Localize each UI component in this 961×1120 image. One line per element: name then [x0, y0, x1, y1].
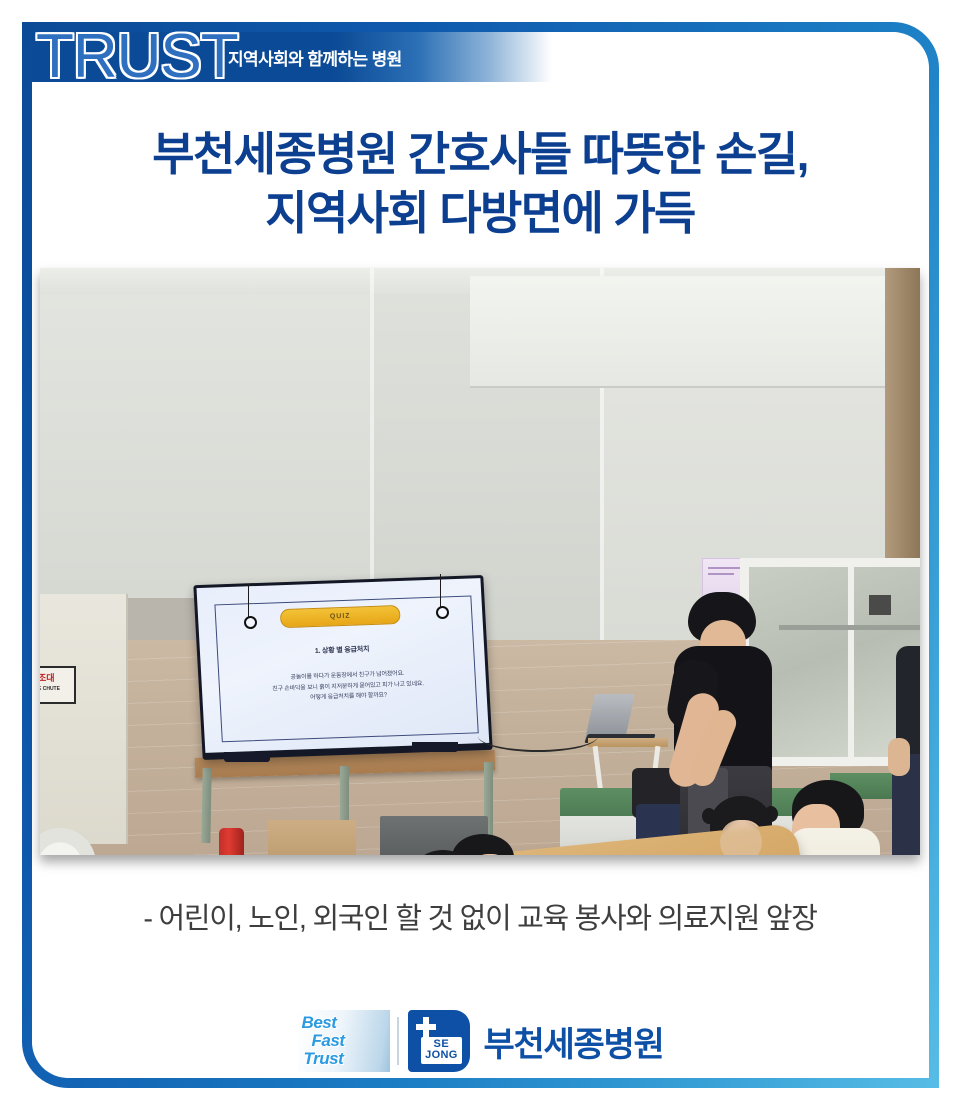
tv-table-leg-left: [201, 768, 211, 843]
photo-caption: - 어린이, 노인, 외국인 할 것 없이 교육 봉사와 의료지원 앞장: [40, 895, 920, 937]
poster-line-2: [708, 573, 734, 575]
power-cable-1: [478, 720, 598, 752]
page-title: 부천세종병원 간호사들 따뜻한 손길, 지역사회 다방면에 가득: [40, 125, 920, 243]
slogan-line-fast: Fast: [302, 1032, 390, 1050]
window-exterior-pipe: [779, 625, 920, 630]
window-pane: [749, 567, 920, 757]
wall-sign-line-2: E CHUTE: [40, 686, 60, 692]
hero-photo: 조대 E CHUTE QUIZ 1. 상황 별 응급처치 공놀이를 하다가 운동…: [40, 268, 920, 855]
tv-body: QUIZ 1. 상황 별 응급처치 공놀이를 하다가 운동장에서 친구가 넘어졌…: [193, 575, 492, 760]
whiteboard: [470, 276, 890, 388]
fire-extinguisher: [219, 828, 244, 855]
cardboard-box: [268, 820, 356, 855]
wall-sign-line-1: 조대: [40, 671, 55, 684]
poster-line-1: [708, 567, 740, 569]
cross-notch: [416, 1017, 422, 1023]
hang-ring-right: [436, 606, 449, 619]
window-exterior-box: [869, 595, 891, 615]
cross-horizontal: [416, 1024, 436, 1030]
wall-left: [40, 268, 390, 598]
logo-divider: [397, 1017, 399, 1065]
sejong-wordmark-box: SE JONG: [421, 1037, 461, 1064]
hang-wire-right: [440, 574, 441, 610]
hang-ring-left: [244, 616, 257, 629]
slogan-line-trust: Trust: [302, 1050, 390, 1068]
trust-wordmark: TRUST: [36, 26, 238, 88]
wall-sign: 조대 E CHUTE: [40, 666, 76, 704]
brand-tagline: 지역사회와 함께하는 병원: [228, 45, 402, 70]
best-fast-trust-slogan: Best Fast Trust: [298, 1010, 390, 1072]
window-mullion: [848, 567, 854, 757]
brand-header: 지역사회와 함께하는 병원 TRUST: [32, 32, 552, 82]
tv-leg-right: [412, 742, 458, 752]
tv-leg-left: [224, 752, 270, 762]
page-title-line-1: 부천세종병원 간호사들 따뜻한 손길,: [40, 125, 920, 184]
page-title-line-2: 지역사회 다방면에 가득: [40, 184, 920, 243]
child-beige-body: [788, 828, 880, 855]
hospital-name: 부천세종병원: [484, 1017, 664, 1066]
hang-wire-left: [248, 584, 249, 620]
footer-logo-lockup: Best Fast Trust SE JONG 부천세종병원: [0, 1005, 961, 1077]
tv-screen: QUIZ 1. 상황 별 응급처치 공놀이를 하다가 운동장에서 친구가 넘어졌…: [196, 578, 489, 753]
medical-cross-icon: [416, 1017, 436, 1037]
adult-right-arm: [888, 738, 910, 776]
slogan-line-best: Best: [302, 1014, 390, 1032]
sejong-logo-mark: SE JONG: [408, 1010, 470, 1072]
cabinet-left: [40, 594, 128, 844]
hero-photo-scene: 조대 E CHUTE QUIZ 1. 상황 별 응급처치 공놀이를 하다가 운동…: [40, 268, 920, 855]
sejong-text-jong: JONG: [425, 1050, 457, 1062]
